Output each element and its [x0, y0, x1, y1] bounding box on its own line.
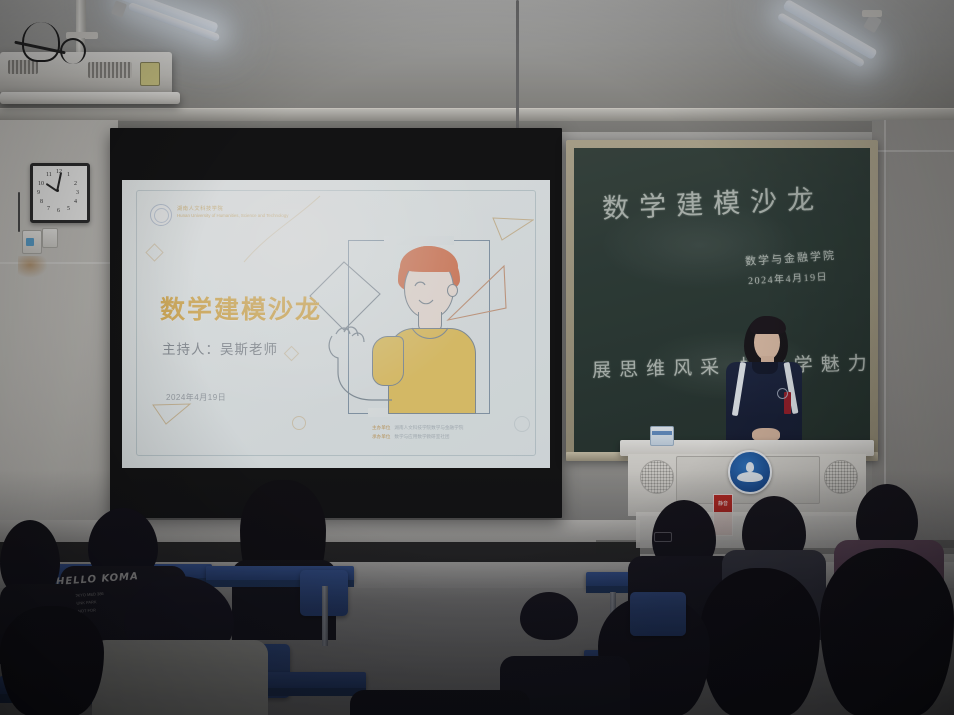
desk-leg-1 [322, 586, 328, 646]
projector-lens [140, 62, 160, 86]
illustration-arm-raised [324, 320, 396, 404]
projection-screen: 湖南人文科技学院 Hunan University of Humanities,… [122, 180, 550, 468]
student-torso-center-dark [350, 690, 530, 715]
decor-circle-outline-right [514, 416, 530, 432]
clock-numeral: 8 [40, 199, 43, 205]
presenter-hair-fringe [750, 316, 786, 334]
slide-date: 2024年4月19日 [166, 392, 226, 403]
illustration-frame-mask-top [384, 236, 454, 245]
projector-pole [76, 0, 86, 34]
student-head-front-right-long-2 [820, 548, 954, 715]
water-bottle [650, 426, 674, 446]
wall-stain [18, 256, 48, 278]
clock-center-pin [56, 189, 59, 192]
projector-base [0, 92, 180, 104]
podium-sign-text: 静音 [714, 501, 732, 508]
decor-circle-outline [292, 416, 306, 430]
chair-mid-right [630, 592, 686, 636]
university-logo-icon [150, 204, 172, 226]
ceiling-beam [0, 108, 954, 121]
podium-emblem-icon [728, 450, 772, 494]
podium-speaker-grille-right [824, 460, 858, 494]
podium-speaker-grille-left [640, 460, 674, 494]
projector-cable [22, 22, 60, 62]
clock-numeral: 9 [37, 190, 40, 196]
student-head-front-left-long [0, 606, 104, 715]
decor-triangle-outline-bottomleft [152, 402, 192, 426]
classroom-photo: 12 1 2 3 4 5 6 7 8 9 10 11 湖南人文科技学院 Huna… [0, 0, 954, 715]
emblem-star [746, 462, 754, 472]
emblem-wave [737, 472, 763, 482]
slide-credit-line-2: 承办单位数学与应用数学教研室社团 [372, 433, 450, 440]
illustration-mouth [418, 298, 434, 306]
student-head-front-right-long-1 [700, 568, 820, 715]
projector-vent [88, 62, 132, 78]
clock-numeral: 1 [67, 172, 70, 178]
slide-credit-line-1: 主办单位湖南人文科技学院数学与金融学院 [372, 424, 463, 431]
switch-indicator [26, 238, 34, 246]
projector-vent-2 [8, 60, 38, 74]
student-torso-front-1 [92, 640, 268, 715]
clock-numeral: 5 [67, 206, 70, 212]
decor-triangle-outline-topright [492, 216, 534, 242]
decor-curve-line [242, 194, 322, 264]
clock-numeral: 4 [74, 199, 77, 205]
illustration-eye [414, 280, 426, 288]
wall-junction-box [42, 228, 58, 248]
clock-numeral: 10 [38, 181, 44, 187]
presenter-collar [752, 362, 778, 374]
wall-clock: 12 1 2 3 4 5 6 7 8 9 10 11 [30, 163, 90, 223]
bottle-label [652, 431, 672, 435]
presentation-slide: 湖南人文科技学院 Hunan University of Humanities,… [122, 180, 550, 468]
university-name-cn: 湖南人文科技学院 [177, 205, 223, 212]
light-mount-right [862, 10, 882, 17]
clock-numeral: 2 [74, 181, 77, 187]
clock-numeral: 11 [46, 172, 52, 178]
slide-title: 数学建模沙龙 [160, 290, 322, 326]
clock-numeral: 6 [57, 208, 60, 214]
presenter-shirt-logo-icon [777, 388, 788, 399]
wall-cable [18, 192, 20, 232]
student-glasses-icon [654, 532, 672, 542]
illustration-ear [447, 284, 458, 297]
credit-2-value: 数学与应用数学教研室社团 [394, 434, 449, 439]
clock-numeral: 3 [76, 190, 79, 196]
illustration-collar [408, 326, 452, 348]
slide-host: 主持人：吴斯老师 [162, 338, 278, 358]
student-head-center-low [520, 592, 578, 640]
credit-2-label: 承办单位 [372, 434, 390, 439]
credit-1-value: 湖南人文科技学院数学与金融学院 [394, 425, 463, 430]
projector-cable-loop [60, 38, 86, 64]
clock-numeral: 7 [47, 206, 50, 212]
credit-1-label: 主办单位 [372, 425, 390, 430]
